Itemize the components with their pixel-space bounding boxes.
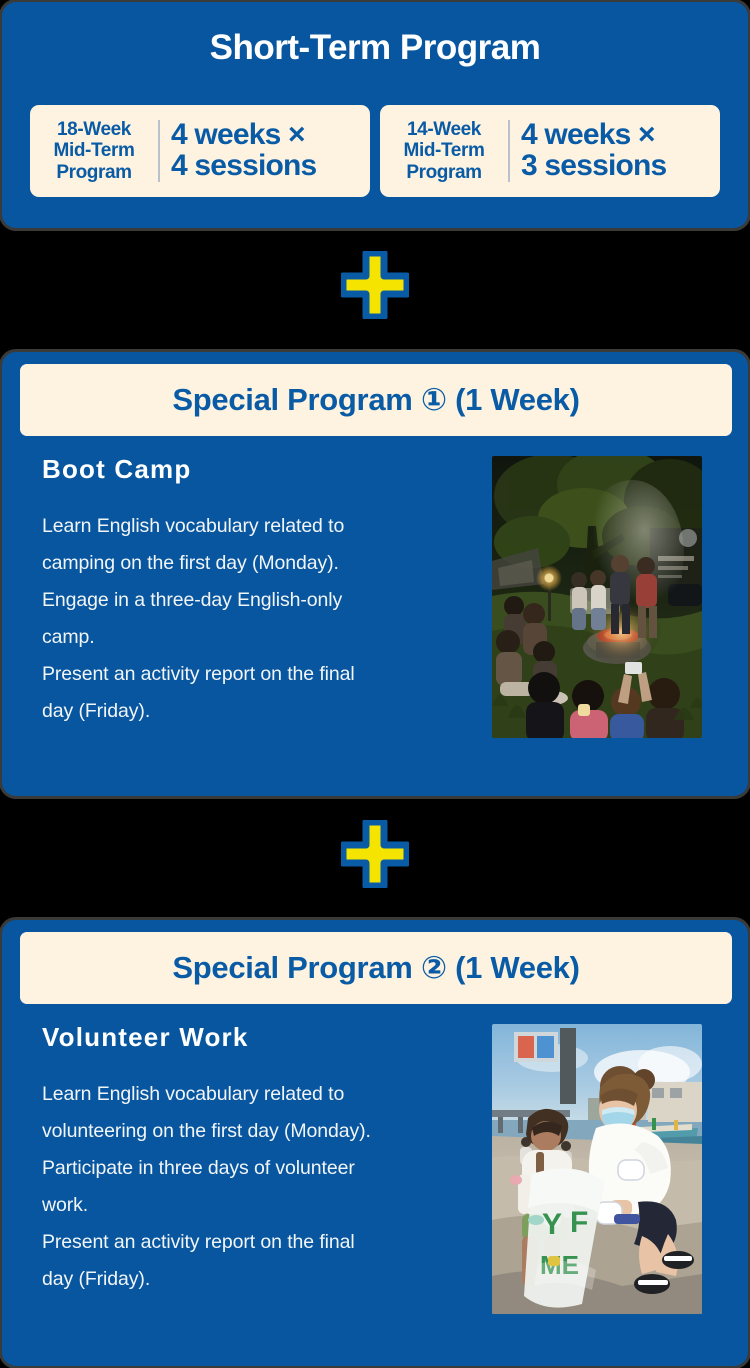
description-line: Engage in a three-day English-only bbox=[42, 582, 480, 619]
pill-label-line-2: Mid-Term bbox=[380, 140, 508, 161]
special-program-2-description: Learn English vocabulary related to volu… bbox=[42, 1076, 480, 1298]
special-program-1-text-block: Boot Camp Learn English vocabulary relat… bbox=[2, 456, 492, 738]
special-program-2-body: Volunteer Work Learn English vocabulary … bbox=[2, 1024, 748, 1314]
special-program-2-panel: Special Program ② (1 Week) Volunteer Wor… bbox=[2, 920, 748, 1366]
description-line: camp. bbox=[42, 619, 480, 656]
plus-icon bbox=[341, 820, 409, 888]
pill-program-label: 14-Week Mid-Term Program bbox=[380, 119, 508, 183]
special-program-2-name: Volunteer Work bbox=[42, 1024, 480, 1050]
program-pill-14-week: 14-Week Mid-Term Program 4 weeks × 3 ses… bbox=[380, 105, 720, 197]
pill-program-label: 18-Week Mid-Term Program bbox=[30, 119, 158, 183]
plus-icon bbox=[341, 251, 409, 319]
pill-detail-line-2: 3 sessions bbox=[521, 151, 720, 182]
description-line: Participate in three days of volunteer bbox=[42, 1150, 480, 1187]
pill-label-line-3: Program bbox=[30, 162, 158, 183]
description-line: camping on the first day (Monday). bbox=[42, 545, 480, 582]
boot-camp-photo bbox=[492, 456, 702, 738]
pill-label-line-1: 14-Week bbox=[380, 119, 508, 140]
special-program-1-header-text: Special Program ① (1 Week) bbox=[172, 382, 579, 418]
pill-detail: 4 weeks × 3 sessions bbox=[510, 120, 720, 182]
special-program-2-header: Special Program ② (1 Week) bbox=[20, 932, 732, 1004]
description-line: day (Friday). bbox=[42, 693, 480, 730]
pill-label-line-2: Mid-Term bbox=[30, 140, 158, 161]
pill-detail: 4 weeks × 4 sessions bbox=[160, 120, 370, 182]
program-pill-18-week: 18-Week Mid-Term Program 4 weeks × 4 ses… bbox=[30, 105, 370, 197]
description-line: work. bbox=[42, 1187, 480, 1224]
description-line: Present an activity report on the final bbox=[42, 1224, 480, 1261]
special-program-1-panel: Special Program ① (1 Week) Boot Camp Lea… bbox=[2, 352, 748, 796]
short-term-program-title: Short-Term Program bbox=[2, 30, 748, 65]
description-line: Learn English vocabulary related to bbox=[42, 508, 480, 545]
program-pill-row: 18-Week Mid-Term Program 4 weeks × 4 ses… bbox=[2, 105, 748, 197]
special-program-1-header: Special Program ① (1 Week) bbox=[20, 364, 732, 436]
special-program-2-text-block: Volunteer Work Learn English vocabulary … bbox=[2, 1024, 492, 1314]
description-line: Learn English vocabulary related to bbox=[42, 1076, 480, 1113]
description-line: volunteering on the first day (Monday). bbox=[42, 1113, 480, 1150]
pill-detail-line-2: 4 sessions bbox=[171, 151, 370, 182]
pill-label-line-3: Program bbox=[380, 162, 508, 183]
special-program-1-name: Boot Camp bbox=[42, 456, 480, 482]
description-line: Present an activity report on the final bbox=[42, 656, 480, 693]
special-program-2-header-text: Special Program ② (1 Week) bbox=[172, 950, 579, 986]
pill-detail-line-1: 4 weeks × bbox=[171, 120, 370, 151]
special-program-1-description: Learn English vocabulary related to camp… bbox=[42, 508, 480, 730]
description-line: day (Friday). bbox=[42, 1261, 480, 1298]
short-term-program-panel: Short-Term Program 18-Week Mid-Term Prog… bbox=[2, 2, 748, 228]
pill-detail-line-1: 4 weeks × bbox=[521, 120, 720, 151]
special-program-1-body: Boot Camp Learn English vocabulary relat… bbox=[2, 456, 748, 738]
pill-label-line-1: 18-Week bbox=[30, 119, 158, 140]
volunteer-work-photo: Y F ME bbox=[492, 1024, 702, 1314]
